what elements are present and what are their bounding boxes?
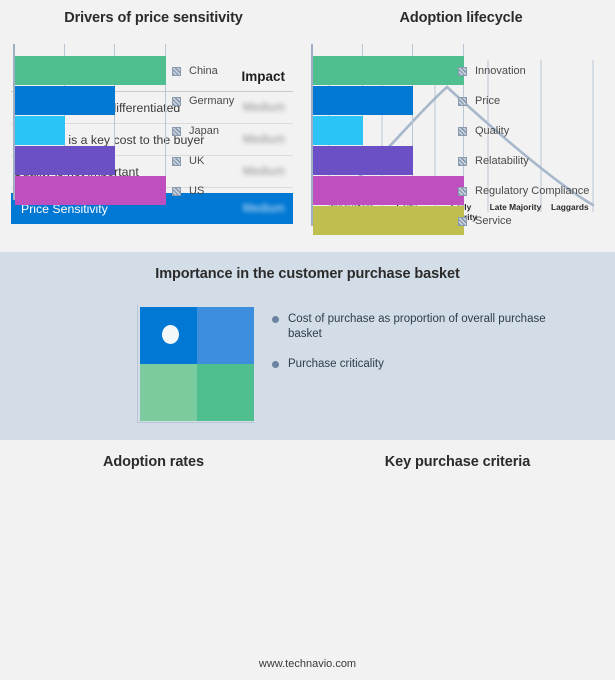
legend-label: Innovation [475, 65, 526, 77]
bar-row[interactable] [313, 86, 464, 115]
bar-price[interactable] [313, 86, 413, 115]
adoption-rates-chart: Adoption rates [0, 440, 307, 680]
legend-label: Germany [189, 95, 234, 107]
legend-label: UK [189, 155, 204, 167]
quadrant-grid [140, 307, 254, 421]
legend-item[interactable]: Quality [458, 116, 589, 146]
legend-label: Japan [189, 125, 219, 137]
bar-innovation[interactable] [313, 56, 464, 85]
adoption-rates-title: Adoption rates [0, 454, 307, 470]
footer-url[interactable]: www.technavio.com [0, 658, 615, 670]
bar-row[interactable] [15, 116, 166, 145]
legend-item[interactable]: Regulatory Compliance [458, 176, 589, 206]
bar-germany[interactable] [15, 86, 115, 115]
swatch-icon [172, 97, 181, 106]
column-header-impact: Impact [241, 69, 285, 84]
position-marker-dot [162, 325, 179, 344]
legend-label: Relatability [475, 155, 529, 167]
adoption-rates-plot-area [13, 44, 166, 200]
key-purchase-criteria-plot-area [311, 44, 464, 226]
swatch-icon [458, 127, 467, 136]
bullet-icon [272, 361, 279, 368]
bar-row[interactable] [313, 56, 464, 85]
lifecycle-panel-title: Adoption lifecycle [307, 10, 615, 26]
key-purchase-criteria-bars [313, 56, 464, 236]
bar-row[interactable] [15, 146, 166, 175]
legend-item[interactable]: Relatability [458, 146, 589, 176]
legend-item: Purchase criticality [272, 357, 572, 372]
swatch-icon [458, 67, 467, 76]
basket-panel-title: Importance in the customer purchase bask… [0, 266, 615, 282]
bar-uk[interactable] [15, 146, 115, 175]
bar-row[interactable] [313, 116, 464, 145]
bar-row[interactable] [313, 146, 464, 175]
legend-label: US [189, 185, 204, 197]
cell-impact: Medium [243, 134, 285, 146]
legend-item[interactable]: China [172, 56, 234, 86]
swatch-icon [172, 67, 181, 76]
legend-label: Quality [475, 125, 509, 137]
bar-row[interactable] [313, 176, 464, 205]
bar-regulatory-compliance[interactable] [313, 176, 464, 205]
bar-service[interactable] [313, 206, 464, 235]
legend-item-label: Purchase criticality [288, 357, 384, 372]
legend-item[interactable]: US [172, 176, 234, 206]
legend-item-label: Cost of purchase as proportion of overal… [288, 312, 572, 341]
legend-item[interactable]: Service [458, 206, 589, 236]
bar-china[interactable] [15, 56, 166, 85]
quadrant-top-right [197, 307, 254, 364]
legend-item[interactable]: Germany [172, 86, 234, 116]
legend-label: Service [475, 215, 512, 227]
bar-row[interactable] [313, 206, 464, 235]
bullet-icon [272, 316, 279, 323]
key-purchase-criteria-legend: Innovation Price Quality Relatability Re… [458, 56, 589, 236]
cell-impact: Medium [243, 166, 285, 178]
swatch-icon [458, 97, 467, 106]
legend-label: Regulatory Compliance [475, 185, 589, 197]
legend-item[interactable]: UK [172, 146, 234, 176]
swatch-icon [172, 157, 181, 166]
swatch-icon [458, 187, 467, 196]
drivers-panel-title: Drivers of price sensitivity [0, 10, 307, 26]
legend-label: Price [475, 95, 500, 107]
quadrant-bottom-left [140, 364, 197, 421]
basket-legend: Cost of purchase as proportion of overal… [272, 312, 572, 388]
legend-item: Cost of purchase as proportion of overal… [272, 312, 572, 341]
adoption-rates-bars [15, 56, 166, 206]
quadrant-bottom-right [197, 364, 254, 421]
legend-item[interactable]: Innovation [458, 56, 589, 86]
bar-relatability[interactable] [313, 146, 413, 175]
bar-row[interactable] [15, 86, 166, 115]
cell-impact: Medium [243, 203, 285, 215]
swatch-icon [458, 157, 467, 166]
quadrant-matrix [137, 305, 255, 423]
swatch-icon [458, 217, 467, 226]
legend-label: China [189, 65, 218, 77]
infographic-page: Drivers of price sensitivity Driver Impa… [0, 0, 615, 680]
key-purchase-criteria-chart: Key purchase criteria [300, 440, 615, 680]
adoption-rates-legend: China Germany Japan UK US [172, 56, 234, 206]
cell-impact: Medium [243, 102, 285, 114]
swatch-icon [172, 127, 181, 136]
bar-row[interactable] [15, 56, 166, 85]
bar-row[interactable] [15, 176, 166, 205]
swatch-icon [172, 187, 181, 196]
key-purchase-criteria-title: Key purchase criteria [300, 454, 615, 470]
bar-quality[interactable] [313, 116, 363, 145]
bar-japan[interactable] [15, 116, 65, 145]
basket-panel: Importance in the customer purchase bask… [0, 252, 615, 440]
bar-us[interactable] [15, 176, 166, 205]
legend-item[interactable]: Price [458, 86, 589, 116]
legend-item[interactable]: Japan [172, 116, 234, 146]
